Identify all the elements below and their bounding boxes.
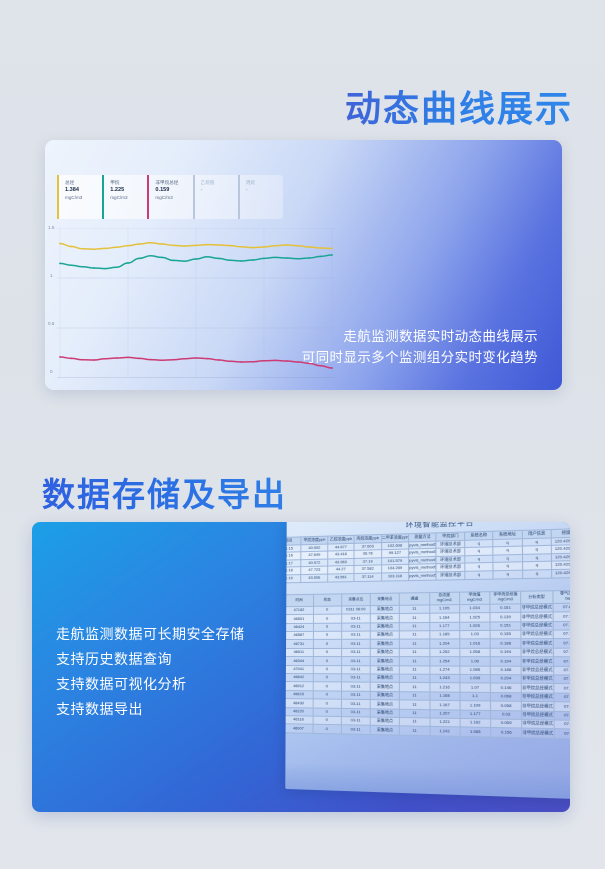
table-cell: 非甲烷总烃模式 bbox=[521, 621, 553, 630]
table-cell: 103.118 bbox=[381, 572, 408, 580]
table-cell: 0.139 bbox=[490, 613, 521, 622]
column-header[interactable]: 状态 bbox=[313, 594, 341, 606]
table-cell: 1.216 bbox=[429, 683, 459, 692]
table-cell: 采集地点 bbox=[370, 614, 399, 623]
table-cell: 1.243 bbox=[429, 674, 459, 683]
table-cell: 非甲烷总烃模式 bbox=[522, 728, 554, 738]
table-cell: 1.03 bbox=[459, 630, 490, 639]
table-cell: 1.034 bbox=[459, 604, 490, 613]
table-cell: pyvis_method5 bbox=[409, 572, 437, 580]
table-cell: 非甲烷总烃模式 bbox=[521, 666, 553, 675]
table-cell: 1.109 bbox=[460, 701, 491, 710]
table-cell: 03-11 bbox=[341, 640, 370, 649]
table-cell: 非甲烷总烃模式 bbox=[522, 684, 554, 693]
column-header[interactable]: 经度 bbox=[551, 529, 570, 538]
table-cell: 采集地点 bbox=[370, 631, 399, 640]
table-cell: 环境技术部 bbox=[436, 571, 464, 579]
table-cell: 环境技术部 bbox=[436, 548, 464, 557]
table-cell: 11 bbox=[400, 657, 430, 666]
table-cell: 1.164 bbox=[429, 613, 459, 622]
table-cell: 1.168 bbox=[429, 692, 459, 701]
table-cell: 采集地点 bbox=[370, 657, 399, 666]
table-cell: 07.73 bbox=[553, 657, 570, 666]
table-cell: 120.429548 bbox=[552, 553, 570, 562]
table-cell: 采集地点 bbox=[370, 682, 399, 691]
table-cell: 1.274 bbox=[429, 665, 459, 674]
column-header[interactable]: 非甲烷总烃值mgC/m3 bbox=[490, 591, 521, 604]
table-cell: 1.039 bbox=[460, 674, 491, 683]
table-cell: 非甲烷总烃模式 bbox=[521, 603, 553, 612]
table-cell: 11 bbox=[400, 691, 430, 700]
table-cell: 0 bbox=[313, 657, 342, 666]
table-cell: 1.026 bbox=[459, 622, 490, 631]
table-cell: 07.76 bbox=[553, 612, 570, 621]
table-cell: 46424 bbox=[285, 623, 313, 632]
y-axis-tick-050: 0.5 bbox=[48, 321, 54, 326]
table-cell: pyvis_method5 bbox=[409, 564, 437, 572]
column-header[interactable]: 时间 bbox=[285, 594, 313, 606]
dynamic-curve-section: 动态曲线展示 总烃 1.384 mgC/m3 甲烷 1.225 mgC/m3 非… bbox=[0, 0, 605, 420]
table-cell: 非甲烷总烃模式 bbox=[522, 693, 554, 702]
legend-value: 0.159 bbox=[155, 186, 190, 194]
column-header[interactable]: 总浓度mgC/m3 bbox=[429, 592, 459, 605]
table-cell: 43.561 bbox=[327, 574, 354, 582]
table-cell: 1.185 bbox=[429, 631, 459, 640]
table-cell: 非甲烷总烃模式 bbox=[521, 648, 553, 657]
table-cell: 03-11 bbox=[341, 657, 370, 666]
description-line-2: 可同时显示多个监测组分实时变化趋势 bbox=[256, 347, 538, 368]
table-cell: 47041 bbox=[285, 665, 313, 674]
legend-unit: mgC/m3 bbox=[65, 194, 100, 201]
table-cell: q bbox=[465, 571, 494, 579]
measurement-table-top[interactable]: 时间甲烷浓度ppb乙烷浓度ppb丙烷浓度ppb二甲苯浓度ppb测量方法甲烷部门系… bbox=[285, 527, 570, 583]
table-cell: 46615 bbox=[285, 690, 312, 699]
table-cell: 120.429548 bbox=[552, 569, 570, 578]
table-cell: 0.204 bbox=[490, 675, 521, 684]
table-cell: 46430 bbox=[285, 699, 312, 708]
table-cell: 采集地点 bbox=[370, 648, 399, 657]
table-cell: 11 bbox=[400, 674, 430, 683]
bullet-item: 支持数据导出 bbox=[56, 697, 245, 722]
table-cell: q bbox=[493, 570, 522, 579]
table-cell: 1.167 bbox=[429, 700, 459, 709]
legend-unit: mgC/m3 bbox=[155, 194, 190, 201]
table-cell: 0 bbox=[313, 725, 342, 734]
table-cell: 46587 bbox=[285, 631, 313, 640]
table-cell: 1.1 bbox=[460, 692, 491, 701]
bullet-item: 支持历史数据查询 bbox=[56, 647, 245, 672]
table-cell: 07.73 bbox=[553, 666, 570, 675]
section-two-title: 数据存储及导出 bbox=[42, 468, 287, 516]
legend-label: 丙烷 bbox=[246, 179, 281, 186]
table-cell: 07.76 bbox=[553, 621, 570, 630]
table-row[interactable]: 2025031146731003-11采集地点111.2041.0160.188… bbox=[285, 639, 570, 649]
table-row[interactable]: 2025031146511003-11采集地点111.2521.0580.194… bbox=[285, 648, 570, 657]
section-one-description: 走航监测数据实时动态曲线展示 可同时显示多个监测组分实时变化趋势 bbox=[256, 326, 538, 368]
table-cell: 0 bbox=[313, 614, 341, 623]
table-cell: 0 bbox=[313, 682, 342, 691]
table-cell: 46511 bbox=[285, 648, 313, 656]
table-cell: 0311 08:00 bbox=[341, 605, 370, 614]
table-cell: 0 bbox=[313, 665, 342, 674]
bullet-item: 支持数据可视化分析 bbox=[56, 672, 245, 697]
table-cell: 03-11 bbox=[341, 674, 370, 683]
table-cell: 03-11 bbox=[341, 699, 370, 708]
column-header[interactable]: 采集点位 bbox=[341, 593, 370, 605]
table-cell: 1.252 bbox=[429, 648, 459, 657]
table-cell: 46501 bbox=[285, 615, 313, 624]
table-cell: 11 bbox=[400, 683, 430, 692]
curve-preview-panel: 总烃 1.384 mgC/m3 甲烷 1.225 mgC/m3 非甲烷总烃 0.… bbox=[45, 140, 562, 390]
legend-value: 1.225 bbox=[110, 186, 145, 194]
column-header[interactable]: 甲烷值mgC/m3 bbox=[459, 592, 490, 605]
table-cell: 11 bbox=[400, 622, 430, 631]
table-cell: 0.188 bbox=[490, 639, 521, 648]
legend-label: 乙烷值 bbox=[201, 179, 236, 186]
table-cell: 46344 bbox=[285, 657, 313, 665]
column-header[interactable]: 乙烷浓度ppb bbox=[328, 535, 355, 543]
table-cell: 120.429548 bbox=[551, 545, 570, 554]
table-cell: 11 bbox=[400, 631, 430, 640]
table-cell: 07.75 bbox=[553, 639, 570, 648]
table-cell: 03-11 bbox=[341, 691, 370, 700]
table-cell: 07.81 bbox=[552, 603, 570, 612]
table-cell: 采集地点 bbox=[370, 691, 399, 700]
legend-item-total-hydrocarbon[interactable]: 总烃 1.384 mgC/m3 bbox=[57, 175, 100, 219]
data-storage-section: 数据存储及导出 走航监测数据可长期安全存储 支持历史数据查询 支持数据可视化分析… bbox=[0, 430, 605, 860]
column-header[interactable]: 甲烷浓度ppb bbox=[301, 536, 327, 544]
table-cell: 0.151 bbox=[490, 621, 521, 630]
chart-legend: 总烃 1.384 mgC/m3 甲烷 1.225 mgC/m3 非甲烷总烃 0.… bbox=[57, 175, 283, 219]
table-cell: 非甲烷总烃模式 bbox=[521, 657, 553, 666]
table-cell: 11 bbox=[400, 648, 430, 657]
table-cell: 0 bbox=[313, 648, 342, 657]
table-cell: 0.188 bbox=[490, 666, 521, 675]
table-cell: 120.429548 bbox=[551, 537, 570, 546]
table-cell: 采集地点 bbox=[370, 674, 399, 683]
table-cell: 11 bbox=[400, 726, 430, 735]
table-cell: 11:19 bbox=[285, 575, 301, 583]
table-cell: pyvis_method5 bbox=[409, 548, 437, 556]
legend-item-ethane[interactable]: 乙烷值 - bbox=[193, 175, 236, 219]
table-cell: 1.058 bbox=[460, 648, 491, 657]
storage-preview-panel: 走航监测数据可长期安全存储 支持历史数据查询 支持数据可视化分析 支持数据导出 … bbox=[32, 522, 570, 812]
table-cell: 环境技术部 bbox=[436, 540, 464, 549]
table-cell: 07.74 bbox=[553, 702, 570, 711]
legend-value: 1.384 bbox=[65, 186, 100, 194]
bullet-item: 走航监测数据可长期安全存储 bbox=[56, 622, 245, 647]
table-cell: 11 bbox=[400, 605, 430, 614]
table-cell: 1.204 bbox=[429, 639, 459, 648]
legend-label: 非甲烷总烃 bbox=[155, 179, 190, 186]
table-cell: 11 bbox=[400, 613, 430, 622]
legend-value: - bbox=[201, 186, 236, 194]
table-cell: 0.058 bbox=[490, 701, 521, 710]
table-cell: 采集地点 bbox=[370, 605, 399, 614]
column-header[interactable]: 二甲苯浓度ppb bbox=[381, 534, 408, 542]
table-cell: 03-11 bbox=[341, 725, 370, 734]
table-cell: 46007 bbox=[285, 724, 312, 733]
table-cell: 1.07 bbox=[460, 683, 491, 692]
table-cell: 1.086 bbox=[460, 666, 491, 675]
table-cell: 03-11 bbox=[341, 682, 370, 691]
table-cell: 120.429548 bbox=[552, 561, 570, 570]
table-cell: 1.06 bbox=[460, 657, 491, 666]
table-cell: 0.156 bbox=[491, 728, 522, 738]
table-cell: 03-11 bbox=[341, 631, 370, 640]
table-cell: 03-11 bbox=[341, 614, 370, 623]
table-cell: 非甲烷总烃模式 bbox=[521, 612, 553, 621]
table-cell: 07.75 bbox=[553, 630, 570, 639]
table-cell: 1.254 bbox=[429, 657, 459, 666]
table-cell: 1.177 bbox=[429, 622, 459, 631]
y-axis-tick-100: 1 bbox=[50, 273, 53, 278]
column-header[interactable]: 丙烷浓度ppb bbox=[354, 535, 381, 543]
table-cell: 非甲烷总烃模式 bbox=[521, 675, 553, 684]
legend-label: 甲烷 bbox=[110, 179, 145, 186]
table-cell: 46731 bbox=[285, 640, 313, 648]
table-cell: 46912 bbox=[285, 682, 312, 691]
table-cell: 1.195 bbox=[429, 604, 459, 613]
table-cell: 非甲烷总烃模式 bbox=[521, 639, 553, 648]
column-header[interactable]: 零气压力bar bbox=[552, 590, 570, 603]
table-cell: pyvis_method5 bbox=[409, 556, 437, 564]
table-cell: 47182 bbox=[285, 606, 313, 615]
legend-label: 总烃 bbox=[65, 179, 100, 186]
table-cell: 采集地点 bbox=[370, 665, 399, 674]
table-cell: 07.74 bbox=[553, 684, 570, 693]
table-cell: 43.506 bbox=[301, 574, 327, 582]
table-cell: q bbox=[522, 570, 551, 579]
table-cell: 环境技术部 bbox=[436, 556, 464, 564]
y-axis-tick-000: 0 bbox=[50, 369, 53, 374]
table-cell: 0 bbox=[313, 606, 341, 615]
column-header[interactable]: 通道 bbox=[400, 593, 430, 606]
table-cell: 07.74 bbox=[553, 693, 570, 702]
table-cell: 1.241 bbox=[430, 727, 460, 736]
table-cell: 采集地点 bbox=[370, 622, 399, 631]
description-line-1: 走航监测数据实时动态曲线展示 bbox=[256, 326, 538, 347]
table-cell: 1.085 bbox=[460, 727, 491, 736]
table-cell: 0.146 bbox=[490, 683, 521, 692]
table-cell: 03-11 bbox=[341, 665, 370, 674]
table-cell: 1.025 bbox=[459, 613, 490, 622]
legend-item-propane[interactable]: 丙烷 - bbox=[238, 175, 281, 219]
table-cell: 11 bbox=[400, 639, 430, 648]
table-cell: 46842 bbox=[285, 673, 313, 682]
table-cell: 非甲烷总烃模式 bbox=[521, 630, 553, 639]
table-cell: 采集地点 bbox=[370, 700, 399, 709]
table-cell: 采集地点 bbox=[370, 726, 399, 735]
table-cell: 0 bbox=[313, 640, 342, 649]
platform-screenshot-card: 环境智能监控平台 时间甲烷浓度ppb乙烷浓度ppb丙烷浓度ppb二甲苯浓度ppb… bbox=[285, 522, 570, 800]
legend-item-methane[interactable]: 甲烷 1.225 mgC/m3 bbox=[102, 175, 145, 219]
table-cell: 0.068 bbox=[490, 692, 521, 701]
table-cell: 0 bbox=[313, 674, 342, 683]
table-cell: 0.194 bbox=[490, 657, 521, 666]
card-fade-overlay bbox=[285, 763, 570, 801]
table-cell: 03-11 bbox=[341, 623, 370, 632]
table-cell: pyvis_method5 bbox=[409, 541, 437, 550]
table-cell: 07.74 bbox=[553, 648, 570, 657]
measurement-table-main[interactable]: 编号时间状态采集点位采集地点通道总浓度mgC/m3甲烷值mgC/m3非甲烷总烃值… bbox=[285, 589, 570, 740]
table-cell: 1.016 bbox=[459, 639, 490, 648]
table-cell: 采集地点 bbox=[370, 640, 399, 649]
feature-bullet-list: 走航监测数据可长期安全存储 支持历史数据查询 支持数据可视化分析 支持数据导出 bbox=[56, 622, 245, 722]
table-cell: 07.73 bbox=[553, 675, 570, 684]
y-axis-tick-150: 1.5 bbox=[48, 225, 54, 230]
table-cell: 0 bbox=[313, 691, 342, 700]
section-one-title: 动态曲线展示 bbox=[345, 80, 573, 132]
table-cell: 37.114 bbox=[354, 573, 381, 581]
table-cell: 07.73 bbox=[554, 729, 570, 739]
table-cell: 非甲烷总烃模式 bbox=[522, 701, 554, 710]
column-header[interactable]: 分析类型 bbox=[521, 591, 553, 604]
column-header[interactable]: 采集地点 bbox=[370, 593, 399, 605]
legend-value: - bbox=[246, 186, 281, 194]
table-cell: 0 bbox=[313, 631, 341, 640]
table-cell: 环境技术部 bbox=[436, 563, 464, 571]
table-cell: 0.194 bbox=[490, 648, 521, 657]
legend-item-nmhc[interactable]: 非甲烷总烃 0.159 mgC/m3 bbox=[147, 175, 190, 219]
legend-unit: mgC/m3 bbox=[110, 194, 145, 201]
table-cell: 0.161 bbox=[490, 604, 521, 613]
table-cell: 0.155 bbox=[490, 630, 521, 639]
table-cell: 03-11 bbox=[341, 648, 370, 657]
table-cell: 0 bbox=[313, 623, 341, 632]
table-cell: 11 bbox=[400, 665, 430, 674]
table-cell: 11 bbox=[400, 700, 430, 709]
